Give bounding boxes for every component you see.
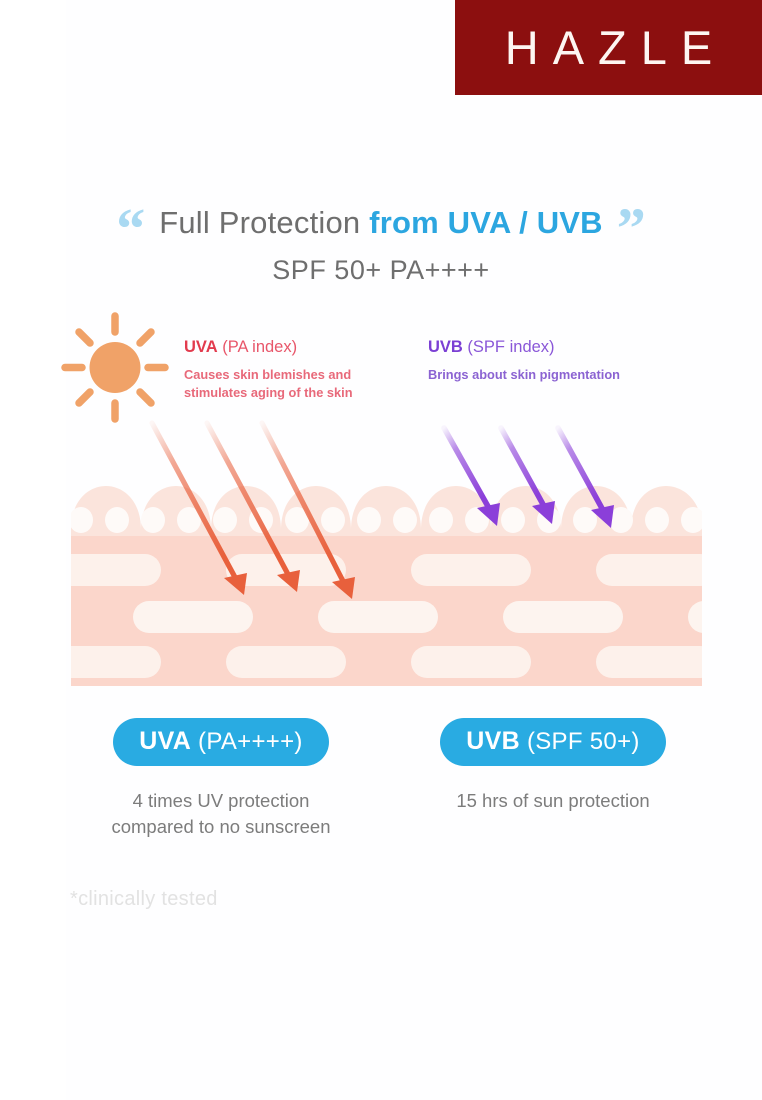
- headline-block: “ Full Protection from UVA / UVB ” SPF 5…: [0, 205, 762, 286]
- uvb-result-caption: 15 hrs of sun protection: [392, 788, 714, 814]
- uva-ray-title-strong: UVA: [184, 338, 218, 356]
- infographic-page: HAZLE “ Full Protection from UVA / UVB ”…: [0, 0, 762, 1100]
- headline-plain: Full Protection: [159, 205, 369, 240]
- uva-ray-description-line2: stimulates aging of the skin: [184, 384, 424, 402]
- uva-result-caption-line2: compared to no sunscreen: [60, 814, 382, 840]
- uva-badge-light: (PA++++): [191, 728, 303, 755]
- uva-ray-label: UVA (PA index) Causes skin blemishes and…: [184, 338, 424, 402]
- uvb-result-block: UVB (SPF 50+) 15 hrs of sun protection: [392, 718, 714, 814]
- page-subtitle: SPF 50+ PA++++: [0, 255, 762, 286]
- headline-accent: from UVA / UVB: [369, 205, 603, 240]
- uvb-result-badge: UVB (SPF 50+): [440, 718, 665, 766]
- uva-result-caption: 4 times UV protection compared to no sun…: [60, 788, 382, 841]
- quote-open-icon: “: [116, 212, 145, 247]
- uvb-ray-description: Brings about skin pigmentation: [428, 366, 688, 384]
- uva-ray-description-line1: Causes skin blemishes and: [184, 366, 424, 384]
- uvb-ray-description-line1: Brings about skin pigmentation: [428, 366, 688, 384]
- uvb-badge-light: (SPF 50+): [520, 728, 640, 755]
- brand-logo: HAZLE: [455, 0, 762, 95]
- quote-close-icon: ”: [617, 212, 646, 247]
- uva-result-caption-line1: 4 times UV protection: [60, 788, 382, 814]
- skin-cross-section: [71, 478, 702, 686]
- sun-icon: [55, 310, 175, 425]
- uvb-ray-title: UVB (SPF index): [428, 338, 688, 357]
- footnote-text: *clinically tested: [70, 888, 218, 911]
- uvb-result-caption-line1: 15 hrs of sun protection: [392, 788, 714, 814]
- headline-row: “ Full Protection from UVA / UVB ”: [0, 205, 762, 241]
- uvb-badge-strong: UVB: [466, 727, 520, 755]
- uva-result-block: UVA (PA++++) 4 times UV protection compa…: [60, 718, 382, 841]
- brand-wordmark: HAZLE: [491, 20, 727, 75]
- uva-result-badge: UVA (PA++++): [113, 718, 328, 766]
- uva-badge-strong: UVA: [139, 727, 191, 755]
- uva-ray-title: UVA (PA index): [184, 338, 424, 357]
- uva-ray-description: Causes skin blemishes and stimulates agi…: [184, 366, 424, 402]
- uvb-ray-label: UVB (SPF index) Brings about skin pigmen…: [428, 338, 688, 384]
- page-title: Full Protection from UVA / UVB: [159, 205, 603, 241]
- uvb-ray-title-strong: UVB: [428, 338, 463, 356]
- uvb-ray-title-paren: (SPF index): [463, 338, 555, 356]
- uva-ray-title-paren: (PA index): [218, 338, 297, 356]
